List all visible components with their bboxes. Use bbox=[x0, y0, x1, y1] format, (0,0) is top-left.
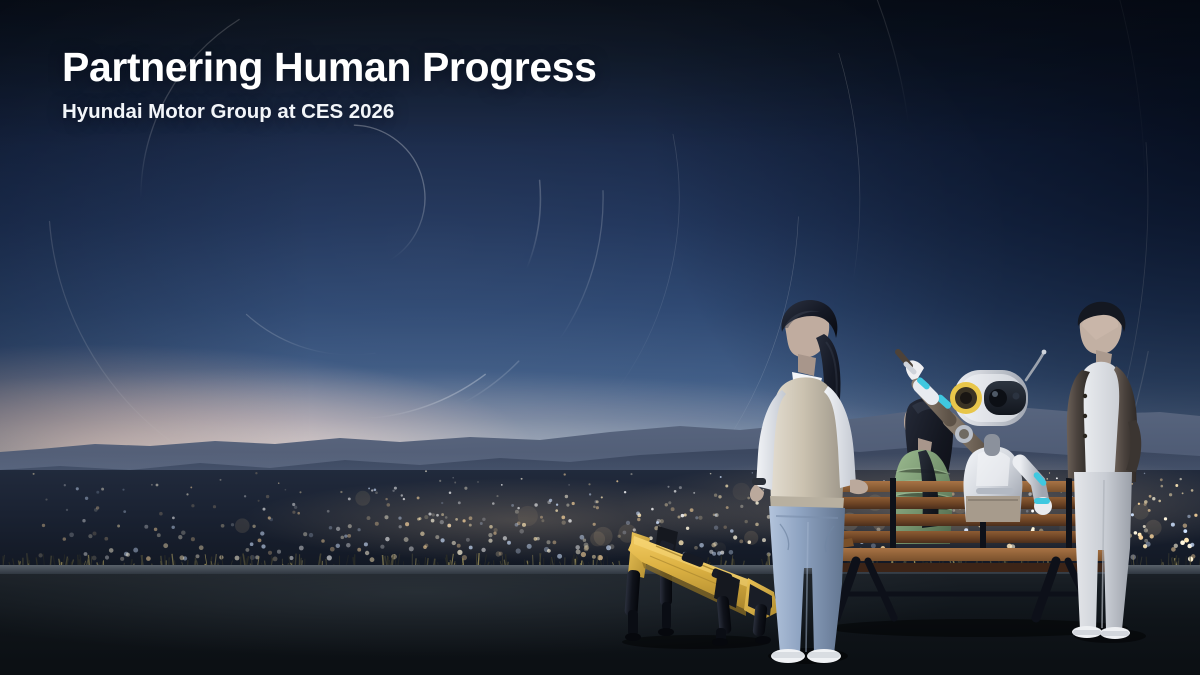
standing-woman bbox=[738, 298, 888, 668]
robot-head bbox=[950, 350, 1046, 426]
standing-man bbox=[1052, 300, 1172, 645]
robot-right-arm bbox=[1020, 462, 1052, 515]
wrist-watch bbox=[752, 478, 766, 485]
headline-block: Partnering Human Progress Hyundai Motor … bbox=[62, 44, 597, 125]
robot-torso bbox=[963, 446, 1022, 522]
page-title: Partnering Human Progress bbox=[62, 44, 597, 90]
companion-robot bbox=[892, 336, 1077, 561]
hero-banner: Partnering Human Progress Hyundai Motor … bbox=[0, 0, 1200, 675]
robot-antenna bbox=[1026, 352, 1044, 380]
page-subtitle: Hyundai Motor Group at CES 2026 bbox=[62, 99, 597, 125]
